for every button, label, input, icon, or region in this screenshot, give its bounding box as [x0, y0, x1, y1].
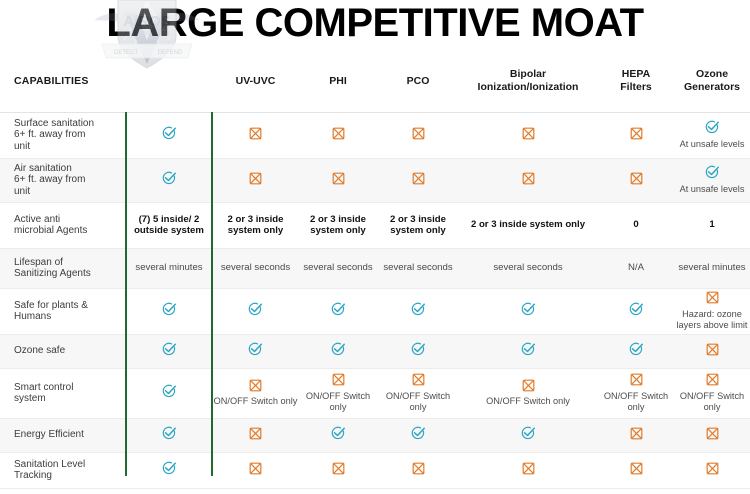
cell-r0-c4	[458, 112, 598, 158]
cell-subtext: ON/OFF Switch only	[598, 391, 674, 413]
cell-text: several minutes	[678, 262, 745, 273]
cell-r2-c4: 2 or 3 inside system only	[458, 202, 598, 248]
row-label-line: unit	[14, 186, 30, 197]
row-label-line: Sanitation Level	[14, 459, 85, 470]
cell-r8-c3	[378, 452, 458, 488]
check-circle-icon	[629, 342, 644, 357]
cell-r7-c5	[598, 418, 674, 452]
table-row: Safe for plants &HumansHazard: ozone lay…	[0, 288, 750, 334]
row-label-line: microbial Agents	[14, 225, 87, 236]
cell-r6-c4: ON/OFF Switch only	[458, 368, 598, 418]
cross-box-icon	[332, 462, 345, 475]
cell-r6-c6: ON/OFF Switch only	[674, 368, 750, 418]
row-label-line: Energy Efficient	[14, 429, 84, 440]
cross-box-icon	[630, 427, 643, 440]
cell-r6-c3: ON/OFF Switch only	[378, 368, 458, 418]
cell-r3-c4: several seconds	[458, 248, 598, 288]
cell-text: N/A	[628, 262, 644, 273]
cell-r7-c6	[674, 418, 750, 452]
cross-box-icon	[412, 127, 425, 140]
row-label-air-sanitation-6-ft-away-from-unit: Air sanitation6+ ft. away fromunit	[0, 158, 125, 202]
cell-r6-c5: ON/OFF Switch only	[598, 368, 674, 418]
row-label-line: Surface sanitation	[14, 118, 94, 129]
column-header-hepa: HEPA Filters	[598, 50, 674, 112]
cross-box-icon	[249, 462, 262, 475]
table-row: Smart controlsystemON/OFF Switch onlyON/…	[0, 368, 750, 418]
row-label-line: Smart control	[14, 382, 73, 393]
check-circle-icon	[411, 426, 426, 441]
check-circle-icon	[331, 426, 346, 441]
column-header-bipolar: Bipolar Ionization/Ionization	[458, 50, 598, 112]
cell-r8-c4	[458, 452, 598, 488]
cross-box-icon	[332, 172, 345, 185]
cross-box-icon	[412, 462, 425, 475]
row-label-active-anti-microbial-agents: Active antimicrobial Agents	[0, 202, 125, 248]
check-circle-icon	[705, 165, 720, 180]
cell-r7-c2	[298, 418, 378, 452]
column-header-ozone-line2: Generators	[684, 81, 740, 93]
cross-box-icon	[412, 172, 425, 185]
cell-subtext: ON/OFF Switch only	[378, 391, 458, 413]
cell-subtext: Hazard: ozone layers above limit	[674, 309, 750, 331]
cell-r7-c3	[378, 418, 458, 452]
cell-r6-c0	[125, 368, 213, 418]
cross-box-icon	[332, 127, 345, 140]
cell-r2-c5: 0	[598, 202, 674, 248]
cell-text: 1	[709, 219, 714, 230]
cell-r0-c5	[598, 112, 674, 158]
cell-r1-c5	[598, 158, 674, 202]
cross-box-icon	[522, 172, 535, 185]
cell-r8-c2	[298, 452, 378, 488]
column-header-hepa-line2: Filters	[620, 81, 652, 93]
check-circle-icon	[629, 302, 644, 317]
check-circle-icon	[705, 120, 720, 135]
cross-box-icon	[630, 373, 643, 386]
check-circle-icon	[521, 302, 536, 317]
cell-text: several seconds	[221, 262, 290, 273]
cell-r5-c1	[213, 334, 298, 368]
cross-box-icon	[706, 373, 719, 386]
row-label-sanitation-level-tracking: Sanitation LevelTracking	[0, 452, 125, 488]
cell-r2-c1: 2 or 3 inside system only	[213, 202, 298, 248]
row-label-line: Active anti	[14, 214, 60, 225]
cell-r5-c6	[674, 334, 750, 368]
cell-r4-c5	[598, 288, 674, 334]
cell-r8-c0	[125, 452, 213, 488]
row-label-line: Safe for plants &	[14, 300, 88, 311]
cell-subtext: At unsafe levels	[674, 184, 750, 195]
row-label-line: 6+ ft. away from	[14, 174, 85, 185]
cell-r5-c5	[598, 334, 674, 368]
table-row: Sanitation LevelTracking	[0, 452, 750, 488]
cell-text: several seconds	[493, 262, 562, 273]
row-label-ozone-safe: Ozone safe	[0, 334, 125, 368]
column-header-hepa-line1: HEPA	[622, 68, 650, 80]
column-header-uvuvc: UV-UVC	[213, 50, 298, 112]
cell-text: 2 or 3 inside system only	[390, 214, 446, 237]
cell-r0-c0	[125, 112, 213, 158]
check-circle-icon	[162, 384, 177, 399]
cross-box-icon	[630, 127, 643, 140]
cell-r2-c0: (7) 5 inside/ 2 outside system	[125, 202, 213, 248]
cell-r6-c1: ON/OFF Switch only	[213, 368, 298, 418]
cross-box-icon	[522, 127, 535, 140]
row-label-line: unit	[14, 141, 30, 152]
cell-text: (7) 5 inside/ 2 outside system	[134, 214, 204, 237]
comparison-table: CAPABILITIES UV-UVC PHI PCO Bipolar Ioni…	[0, 50, 750, 489]
cell-r5-c2	[298, 334, 378, 368]
cross-box-icon	[630, 462, 643, 475]
cell-text: several minutes	[135, 262, 202, 273]
cell-r3-c5: N/A	[598, 248, 674, 288]
check-circle-icon	[162, 461, 177, 476]
cross-box-icon	[630, 172, 643, 185]
cell-r0-c1	[213, 112, 298, 158]
row-label-line: Lifespan of	[14, 257, 63, 268]
row-label-surface-sanitation-6-ft-away-from-unit: Surface sanitation6+ ft. away fromunit	[0, 112, 125, 158]
check-circle-icon	[411, 342, 426, 357]
cell-r4-c0	[125, 288, 213, 334]
check-circle-icon	[162, 126, 177, 141]
cross-box-icon	[706, 343, 719, 356]
check-circle-icon	[162, 426, 177, 441]
cell-r2-c2: 2 or 3 inside system only	[298, 202, 378, 248]
cell-text: several seconds	[383, 262, 452, 273]
cell-r4-c6: Hazard: ozone layers above limit	[674, 288, 750, 334]
cross-box-icon	[249, 172, 262, 185]
column-header-airos	[125, 50, 213, 112]
table-header-row: CAPABILITIES UV-UVC PHI PCO Bipolar Ioni…	[0, 50, 750, 112]
cell-r8-c1	[213, 452, 298, 488]
cell-r8-c5	[598, 452, 674, 488]
cell-subtext: ON/OFF Switch only	[298, 391, 378, 413]
check-circle-icon	[162, 302, 177, 317]
cell-r3-c0: several minutes	[125, 248, 213, 288]
cell-r1-c0	[125, 158, 213, 202]
cell-subtext: At unsafe levels	[674, 139, 750, 150]
cell-r2-c3: 2 or 3 inside system only	[378, 202, 458, 248]
table-row: Energy Efficient	[0, 418, 750, 452]
cell-r8-c6	[674, 452, 750, 488]
cell-subtext: ON/OFF Switch only	[458, 396, 598, 407]
column-header-pco: PCO	[378, 50, 458, 112]
row-label-line: Air sanitation	[14, 163, 72, 174]
cross-box-icon	[706, 462, 719, 475]
cell-r0-c2	[298, 112, 378, 158]
row-label-safe-for-plants-humans: Safe for plants &Humans	[0, 288, 125, 334]
column-header-bipolar-line1: Bipolar	[510, 68, 546, 80]
cell-r3-c3: several seconds	[378, 248, 458, 288]
row-label-lifespan-of-sanitizing-agents: Lifespan ofSanitizing Agents	[0, 248, 125, 288]
cell-r1-c6: At unsafe levels	[674, 158, 750, 202]
cell-r4-c2	[298, 288, 378, 334]
check-circle-icon	[162, 171, 177, 186]
column-header-ozone-line1: Ozone	[696, 68, 728, 80]
cell-subtext: ON/OFF Switch only	[674, 391, 750, 413]
row-label-line: system	[14, 393, 46, 404]
cell-r7-c4	[458, 418, 598, 452]
cell-r1-c2	[298, 158, 378, 202]
cell-text: several seconds	[303, 262, 372, 273]
cross-box-icon	[522, 379, 535, 392]
cell-r3-c2: several seconds	[298, 248, 378, 288]
row-label-energy-efficient: Energy Efficient	[0, 418, 125, 452]
check-circle-icon	[331, 342, 346, 357]
check-circle-icon	[162, 342, 177, 357]
table-row: Active antimicrobial Agents(7) 5 inside/…	[0, 202, 750, 248]
cell-r1-c1	[213, 158, 298, 202]
cross-box-icon	[249, 379, 262, 392]
column-header-bipolar-line2: Ionization/Ionization	[478, 81, 579, 93]
table-row: Surface sanitation6+ ft. away fromunitAt…	[0, 112, 750, 158]
cell-r5-c4	[458, 334, 598, 368]
table-row: Lifespan ofSanitizing Agentsseveral minu…	[0, 248, 750, 288]
column-header-phi: PHI	[298, 50, 378, 112]
cell-r5-c0	[125, 334, 213, 368]
cross-box-icon	[706, 427, 719, 440]
cell-r0-c3	[378, 112, 458, 158]
cell-r2-c6: 1	[674, 202, 750, 248]
cross-box-icon	[412, 373, 425, 386]
cell-r5-c3	[378, 334, 458, 368]
row-label-line: Sanitizing Agents	[14, 268, 91, 279]
table-body: Surface sanitation6+ ft. away fromunitAt…	[0, 112, 750, 488]
cell-subtext: ON/OFF Switch only	[213, 396, 298, 407]
competitive-moat-slide: LARGE COMPETITIVE MOAT CAPABILITIES UV-U…	[0, 0, 750, 476]
table-row: Air sanitation6+ ft. away fromunitAt uns…	[0, 158, 750, 202]
cell-r1-c4	[458, 158, 598, 202]
cross-box-icon	[706, 291, 719, 304]
column-header-ozone: Ozone Generators	[674, 50, 750, 112]
cell-r4-c3	[378, 288, 458, 334]
cell-r0-c6: At unsafe levels	[674, 112, 750, 158]
check-circle-icon	[521, 426, 536, 441]
cross-box-icon	[332, 373, 345, 386]
cell-r4-c1	[213, 288, 298, 334]
cell-r6-c2: ON/OFF Switch only	[298, 368, 378, 418]
cross-box-icon	[522, 462, 535, 475]
check-circle-icon	[331, 302, 346, 317]
cell-text: 0	[633, 219, 638, 230]
table-row: Ozone safe	[0, 334, 750, 368]
page-title: LARGE COMPETITIVE MOAT	[0, 1, 750, 45]
check-circle-icon	[248, 302, 263, 317]
cell-r4-c4	[458, 288, 598, 334]
column-header-capabilities: CAPABILITIES	[0, 50, 125, 112]
check-circle-icon	[248, 342, 263, 357]
cell-r1-c3	[378, 158, 458, 202]
cell-r3-c6: several minutes	[674, 248, 750, 288]
cross-box-icon	[249, 427, 262, 440]
cell-text: 2 or 3 inside system only	[471, 219, 585, 230]
cell-r7-c0	[125, 418, 213, 452]
row-label-smart-control-system: Smart controlsystem	[0, 368, 125, 418]
cell-r7-c1	[213, 418, 298, 452]
cell-r3-c1: several seconds	[213, 248, 298, 288]
row-label-line: 6+ ft. away from	[14, 129, 85, 140]
check-circle-icon	[411, 302, 426, 317]
check-circle-icon	[521, 342, 536, 357]
cell-text: 2 or 3 inside system only	[228, 214, 284, 237]
cell-text: 2 or 3 inside system only	[310, 214, 366, 237]
cross-box-icon	[249, 127, 262, 140]
row-label-line: Humans	[14, 311, 51, 322]
row-label-line: Ozone safe	[14, 345, 65, 356]
